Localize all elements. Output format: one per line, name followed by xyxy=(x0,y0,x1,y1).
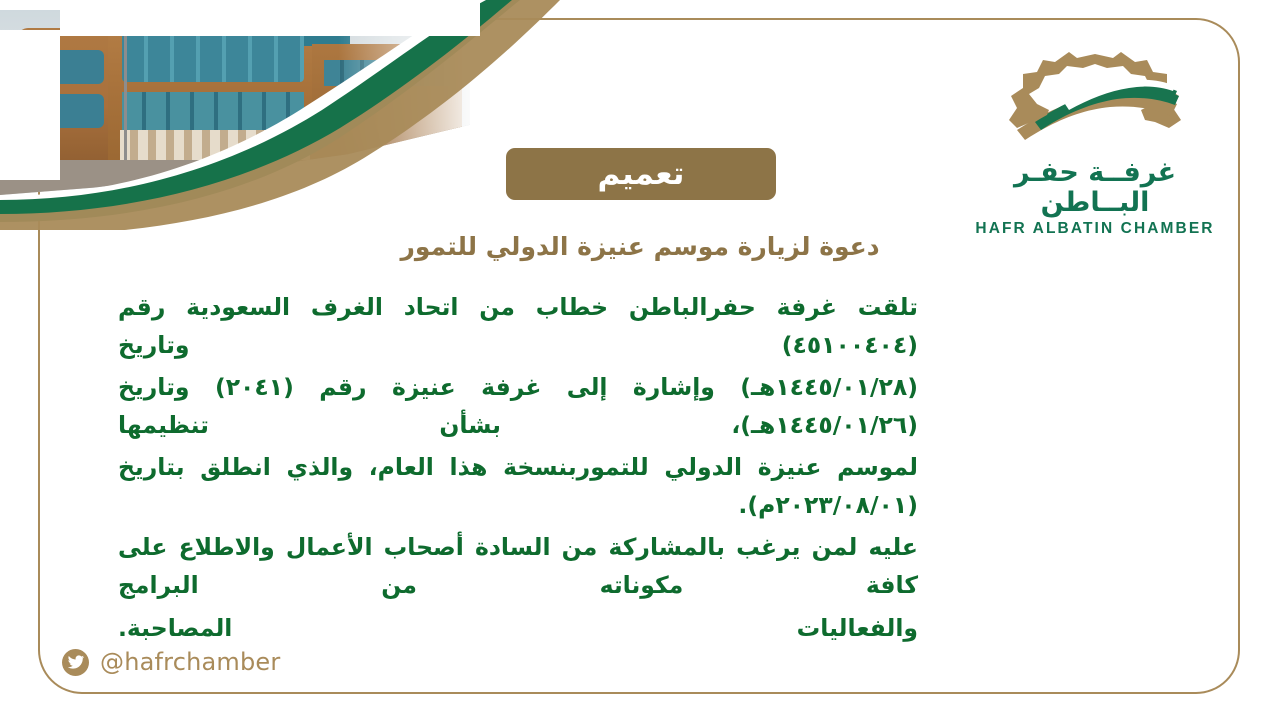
social-footer[interactable]: @hafrchamber xyxy=(62,648,280,676)
body-line-1: تلقت غرفة حفرالباطن خطاب من اتحاد الغرف … xyxy=(118,288,918,364)
announcement-poster: غرفــة حفـر البــاطن HAFR ALBATIN CHAMBE… xyxy=(0,0,1280,720)
twitter-bird-icon[interactable] xyxy=(62,649,89,676)
body-line-3: لموسم عنيزة الدولي للتموربنسخة هذا العام… xyxy=(118,448,918,524)
frame-mask-left xyxy=(0,30,60,180)
body-line-2: (١٤٤٥/٠١/٢٨هـ) وإشارة إلى غرفة عنيزة رقم… xyxy=(118,368,918,444)
circular-badge: تعميم xyxy=(506,148,776,200)
logo-arabic-name: غرفــة حفـر البــاطن xyxy=(970,158,1220,217)
page-title: دعوة لزيارة موسم عنيزة الدولي للتمور xyxy=(120,232,1160,261)
social-handle[interactable]: @hafrchamber xyxy=(100,648,280,676)
chamber-logo: غرفــة حفـر البــاطن HAFR ALBATIN CHAMBE… xyxy=(970,48,1220,238)
body-line-5: والفعاليات المصاحبة. xyxy=(118,609,918,647)
body-line-4: عليه لمن يرغب بالمشاركة من السادة أصحاب … xyxy=(118,528,918,604)
frame-mask-top xyxy=(60,0,480,36)
announcement-body: تلقت غرفة حفرالباطن خطاب من اتحاد الغرف … xyxy=(118,288,918,647)
chamber-arch-logo-icon xyxy=(995,48,1195,156)
